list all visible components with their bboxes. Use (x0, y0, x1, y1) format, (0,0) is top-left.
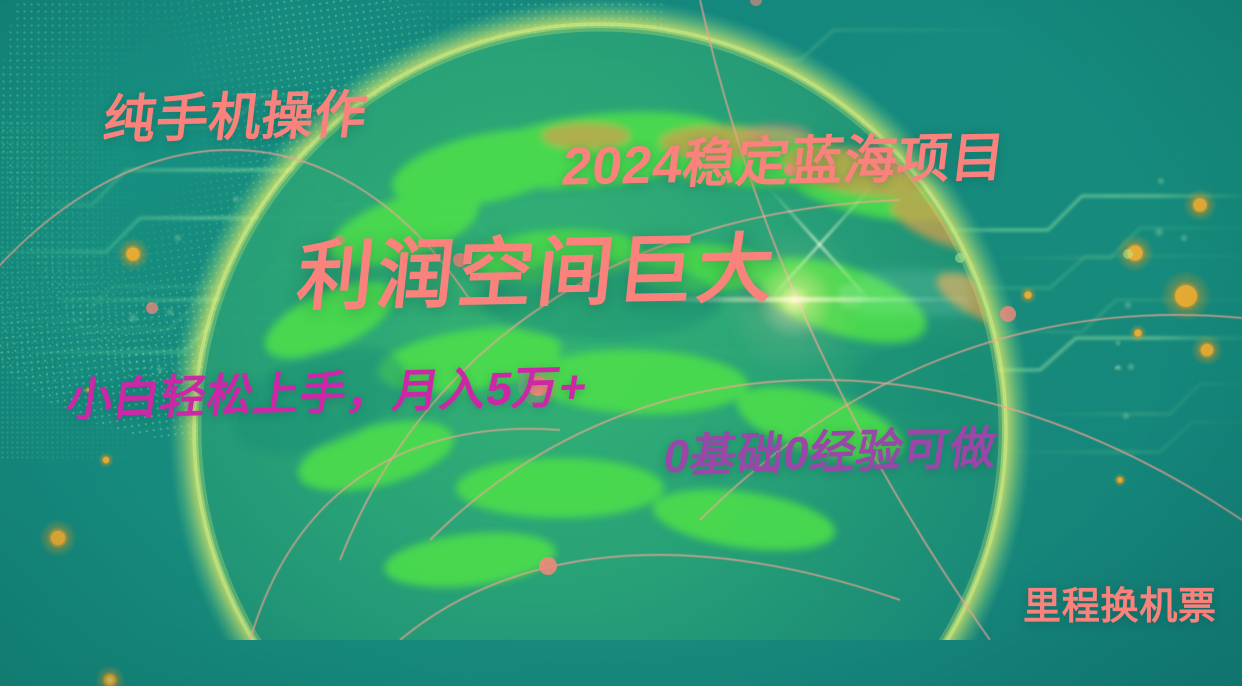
headline-phone-only: 纯手机操作 (101, 89, 371, 146)
lens-flare-ray-icon (767, 186, 873, 303)
headline-2024-project: 2024稳定蓝海项目 (559, 131, 1008, 193)
lens-flare-ghost-icon (838, 283, 864, 309)
headline-zero-base: 0基础0经验可做 (661, 425, 1000, 480)
headline-easy-income: 小白轻松上手，月入5万+ (63, 363, 590, 423)
headline-profit-huge: 利润空间巨大 (294, 232, 782, 316)
lens-flare-ray-icon (767, 186, 873, 303)
headline-miles-tickets: 里程换机票 (1023, 588, 1217, 626)
lens-flare-ghost-icon (860, 270, 970, 316)
promo-poster: 纯手机操作 2024稳定蓝海项目 利润空间巨大 小白轻松上手，月入5万+ 0基础… (0, 0, 1242, 686)
